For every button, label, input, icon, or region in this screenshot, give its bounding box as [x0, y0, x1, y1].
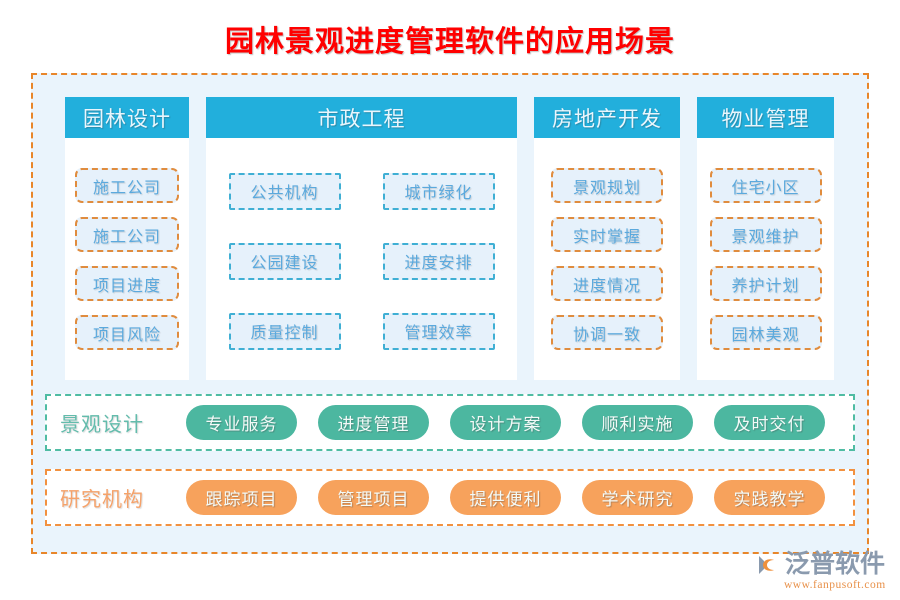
column-garden-design: 园林设计 施工公司 施工公司 项目进度 项目风险: [65, 97, 189, 380]
logo-url: www.fanpusoft.com: [784, 579, 896, 591]
pill-item[interactable]: 学术研究: [582, 480, 693, 515]
column-body-1: 施工公司 施工公司 项目进度 项目风险: [65, 138, 189, 380]
chip-item[interactable]: 养护计划: [710, 266, 822, 301]
chip-stack-1: 施工公司 施工公司 项目进度 项目风险: [75, 164, 179, 350]
brand-logo: 泛普软件 www.fanpusoft.com: [756, 551, 896, 597]
band-landscape-design: 景观设计 专业服务 进度管理 设计方案 顺利实施 及时交付: [45, 394, 855, 451]
diagram-frame: 园林设计 施工公司 施工公司 项目进度 项目风险 市政工程 公共机构 城市绿化 …: [31, 73, 869, 554]
pill-item[interactable]: 及时交付: [714, 405, 825, 440]
chip-item[interactable]: 施工公司: [75, 217, 179, 252]
column-municipal-engineering: 市政工程 公共机构 城市绿化 公园建设 进度安排 质量控制 管理效率: [206, 97, 517, 380]
chip-item[interactable]: 住宅小区: [710, 168, 822, 203]
column-body-2: 公共机构 城市绿化 公园建设 进度安排 质量控制 管理效率: [206, 138, 517, 380]
band-label: 景观设计: [60, 408, 165, 437]
chip-item[interactable]: 实时掌握: [551, 217, 663, 252]
pill-item[interactable]: 进度管理: [318, 405, 429, 440]
pill-item[interactable]: 顺利实施: [582, 405, 693, 440]
pill-item[interactable]: 设计方案: [450, 405, 561, 440]
pill-item[interactable]: 管理项目: [318, 480, 429, 515]
column-header-1: 园林设计: [65, 97, 189, 138]
page-title: 园林景观进度管理软件的应用场景: [0, 18, 900, 60]
chip-item[interactable]: 项目风险: [75, 315, 179, 350]
column-header-4: 物业管理: [697, 97, 834, 138]
chip-item[interactable]: 景观规划: [551, 168, 663, 203]
category-columns: 园林设计 施工公司 施工公司 项目进度 项目风险 市政工程 公共机构 城市绿化 …: [65, 97, 873, 380]
chip-item[interactable]: 质量控制: [229, 313, 341, 350]
chip-item[interactable]: 施工公司: [75, 168, 179, 203]
chip-item[interactable]: 园林美观: [710, 315, 822, 350]
chip-item[interactable]: 进度安排: [383, 243, 495, 280]
chip-item[interactable]: 城市绿化: [383, 173, 495, 210]
pill-item[interactable]: 专业服务: [186, 405, 297, 440]
pill-item[interactable]: 实践教学: [714, 480, 825, 515]
chip-item[interactable]: 管理效率: [383, 313, 495, 350]
logo-row: 泛普软件: [756, 551, 896, 578]
chip-stack-3: 景观规划 实时掌握 进度情况 协调一致: [551, 164, 663, 350]
column-body-4: 住宅小区 景观维护 养护计划 园林美观: [697, 138, 834, 380]
column-real-estate-development: 房地产开发 景观规划 实时掌握 进度情况 协调一致: [534, 97, 680, 380]
band-label: 研究机构: [60, 483, 165, 512]
logo-text: 泛普软件: [785, 551, 885, 578]
column-header-3: 房地产开发: [534, 97, 680, 138]
chip-grid-2: 公共机构 城市绿化 公园建设 进度安排 质量控制 管理效率: [229, 165, 495, 350]
chip-item[interactable]: 进度情况: [551, 266, 663, 301]
column-header-2: 市政工程: [206, 97, 517, 138]
pill-item[interactable]: 提供便利: [450, 480, 561, 515]
chip-item[interactable]: 公共机构: [229, 173, 341, 210]
column-body-3: 景观规划 实时掌握 进度情况 协调一致: [534, 138, 680, 380]
fanpu-swirl-icon: [756, 552, 782, 578]
chip-item[interactable]: 景观维护: [710, 217, 822, 252]
band-research-institution: 研究机构 跟踪项目 管理项目 提供便利 学术研究 实践教学: [45, 469, 855, 526]
chip-stack-4: 住宅小区 景观维护 养护计划 园林美观: [710, 164, 822, 350]
pill-item[interactable]: 跟踪项目: [186, 480, 297, 515]
chip-item[interactable]: 公园建设: [229, 243, 341, 280]
chip-item[interactable]: 协调一致: [551, 315, 663, 350]
chip-item[interactable]: 项目进度: [75, 266, 179, 301]
column-property-management: 物业管理 住宅小区 景观维护 养护计划 园林美观: [697, 97, 834, 380]
